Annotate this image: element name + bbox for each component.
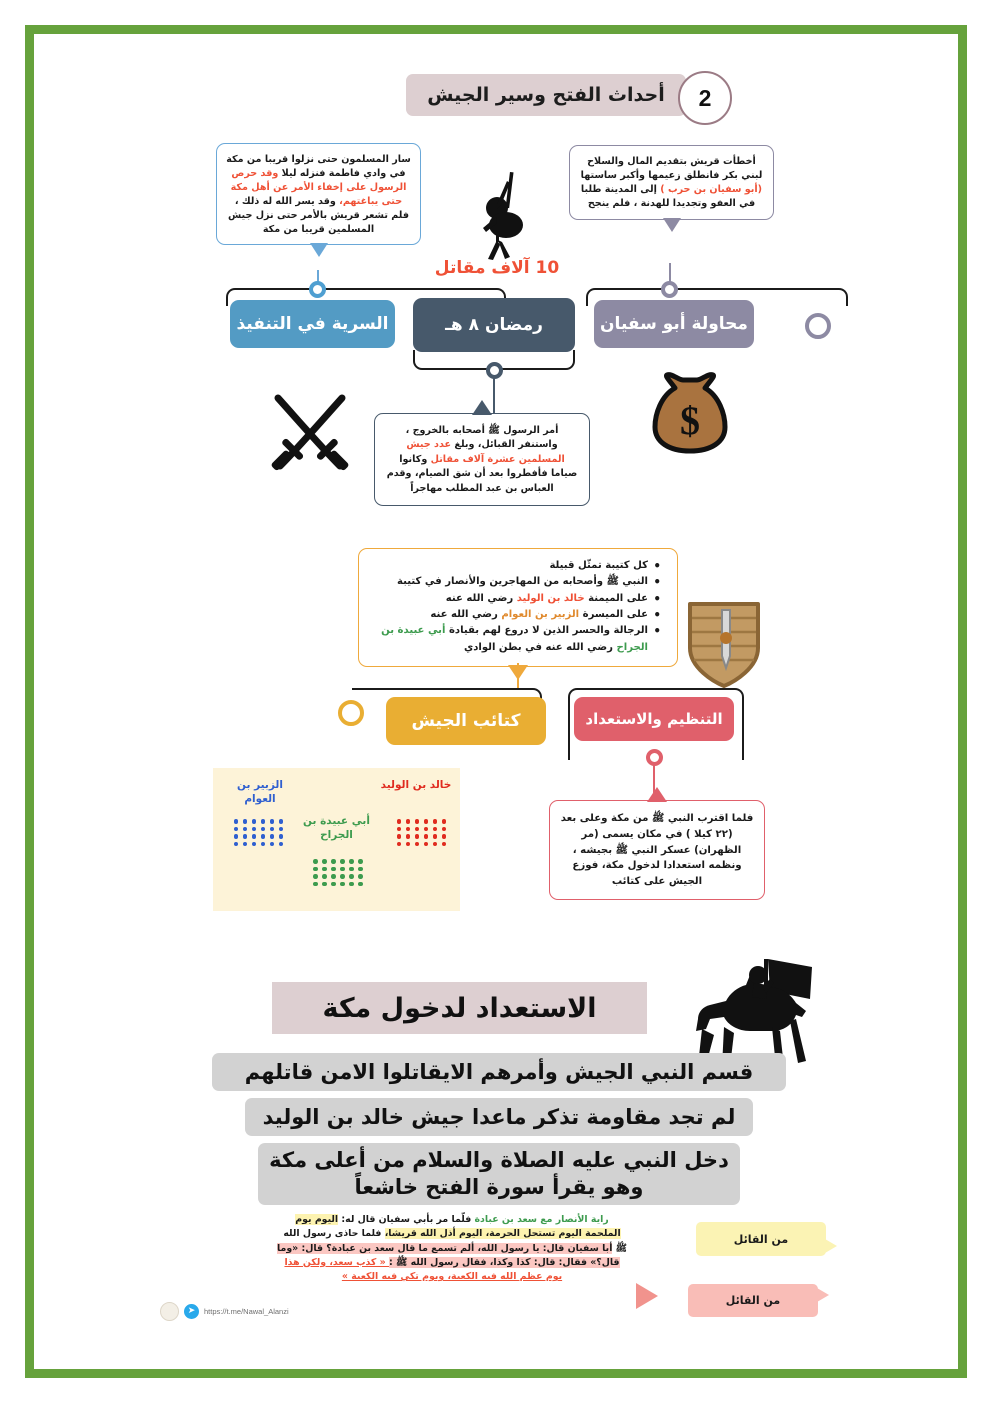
troop-dots-khalid [394, 819, 446, 846]
troop-dots-zubayr [231, 819, 283, 846]
connector-endpoint-kataib [338, 700, 364, 726]
page-title: أحداث الفتح وسير الجيش [406, 74, 686, 116]
box-army-battalions[interactable]: كتائب الجيش [386, 697, 546, 745]
tag-who-said-pink[interactable]: من القائل [688, 1284, 818, 1317]
quote-segment-plain-1: فلّما مر بأبي سفيان قال له: [338, 1214, 474, 1225]
list-item: الرجالة والحسر الذين لا دروع لهم بقيادة … [369, 623, 648, 656]
list-item-text: الرجالة والحسر الذين لا دروع لهم بقيادة [445, 625, 648, 636]
box-secrecy-in-execution[interactable]: السرية في التنفيذ [230, 300, 395, 348]
list-item: على الميمنة خالد بن الوليد رضي الله عنه [369, 591, 648, 607]
list-item-text: النبي ﷺ وأصحابه من المهاجرين والأنصار في… [397, 576, 648, 587]
list-item: كل كتيبة تمثّل قبيلة [369, 558, 648, 574]
box-abu-sufyan-attempt[interactable]: محاولة أبو سفيان [594, 300, 754, 348]
statement-band-1: قسم النبي الجيش وأمرهم الايقاتلوا الامن … [212, 1053, 786, 1091]
list-item-text-2: رضي الله عنه [446, 593, 517, 604]
connector-node-left [309, 281, 326, 298]
list-item-highlight: خالد بن الوليد [517, 593, 585, 604]
commander-name-abu-ubayda: أبي عبيدة بن الجراح [297, 814, 377, 842]
commander-name-khalid: خالد بن الوليد [380, 778, 452, 792]
callout-quraysh-mistake: أخطأت قريش بتقديم المال والسلاح لبني بكر… [569, 145, 774, 220]
callout-quraysh-text-1: أخطأت قريش بتقديم المال والسلاح لبني بكر… [581, 156, 763, 181]
troop-dots-abu-ubayda [311, 859, 363, 886]
list-item-text: على الميمنة [585, 593, 648, 604]
crossed-swords-icon [258, 378, 362, 482]
list-item: النبي ﷺ وأصحابه من المهاجرين والأنصار في… [369, 574, 648, 590]
svg-text:$: $ [680, 398, 700, 443]
connector-endpoint-right [805, 313, 831, 339]
money-bag-icon: $ [645, 372, 735, 454]
army-divisions-list-items: كل كتيبة تمثّل قبيلة النبي ﷺ وأصحابه من … [369, 558, 663, 656]
callout-army-mobilization: أمر الرسول ﷺ أصحابه بالخروج ، واستنفر ال… [374, 413, 590, 506]
tag-who-said-yellow[interactable]: من القائل [696, 1222, 826, 1256]
telegram-icon: ➤ [184, 1304, 199, 1319]
pointer-arrow-icon [636, 1283, 658, 1309]
box-ramadan-date[interactable]: رمضان ٨ هـ [413, 298, 575, 352]
section-heading-entry-prep: الاستعداد لدخول مكة [272, 982, 647, 1034]
connector-line-list-down [517, 663, 519, 689]
list-item-text-2: رضي الله عنه في بطن الوادي [464, 642, 617, 653]
watermark-url: https://t.me/Nawal_Alanzi [204, 1307, 289, 1316]
list-item-highlight: الزبير بن العوام [501, 609, 579, 620]
section-number-badge: 2 [678, 71, 732, 125]
statement-band-2: لم تجد مقاومة تذكر ماعدا جيش خالد بن الو… [245, 1098, 753, 1136]
callout-quraysh-highlight: (أبو سفيان بن حرب ) [660, 184, 762, 195]
connector-line-center-mid [493, 378, 495, 414]
bottom-quote-paragraph: راية الأنصار مع سعد بن عبادة فلّما مر بأ… [277, 1213, 627, 1284]
page-header: أحداث الفتح وسير الجيش 2 [400, 74, 730, 120]
list-item-text-2: رضي الله عنه [430, 609, 501, 620]
channel-logo-icon [160, 1302, 179, 1321]
quote-segment-green: راية الأنصار مع سعد بن عبادة [475, 1214, 609, 1225]
list-item-text: كل كتيبة تمثّل قبيلة [549, 560, 648, 571]
list-item: على الميسرة الزبير بن العوام رضي الله عن… [369, 607, 648, 623]
connector-node-center [486, 362, 503, 379]
fighters-count-label: 10 آلاف مقاتل [417, 258, 577, 278]
commanders-panel: خالد بن الوليد الزبير بن العوام أبي عبيد… [213, 768, 460, 911]
connector-node-right [661, 281, 678, 298]
box-organization-prep[interactable]: التنظيم والاستعداد [574, 697, 734, 741]
commander-name-zubayr: الزبير بن العوام [221, 778, 299, 806]
statement-band-3: دخل النبي عليه الصلاة والسلام من أعلى مك… [258, 1143, 740, 1205]
shield-sword-icon [684, 598, 770, 690]
list-item-text: على الميسرة [579, 609, 648, 620]
warrior-icon [452, 168, 542, 260]
army-divisions-list: كل كتيبة تمثّل قبيلة النبي ﷺ وأصحابه من … [358, 548, 678, 667]
watermark: ➤ https://t.me/Nawal_Alanzi [160, 1300, 340, 1322]
callout-secrecy: سار المسلمون حتى نزلوا قريبا من مكة في و… [216, 143, 421, 245]
callout-marr-az-zahran: فلما اقترب النبي ﷺ من مكة وعلى بعد (٢٢ ك… [549, 800, 765, 900]
